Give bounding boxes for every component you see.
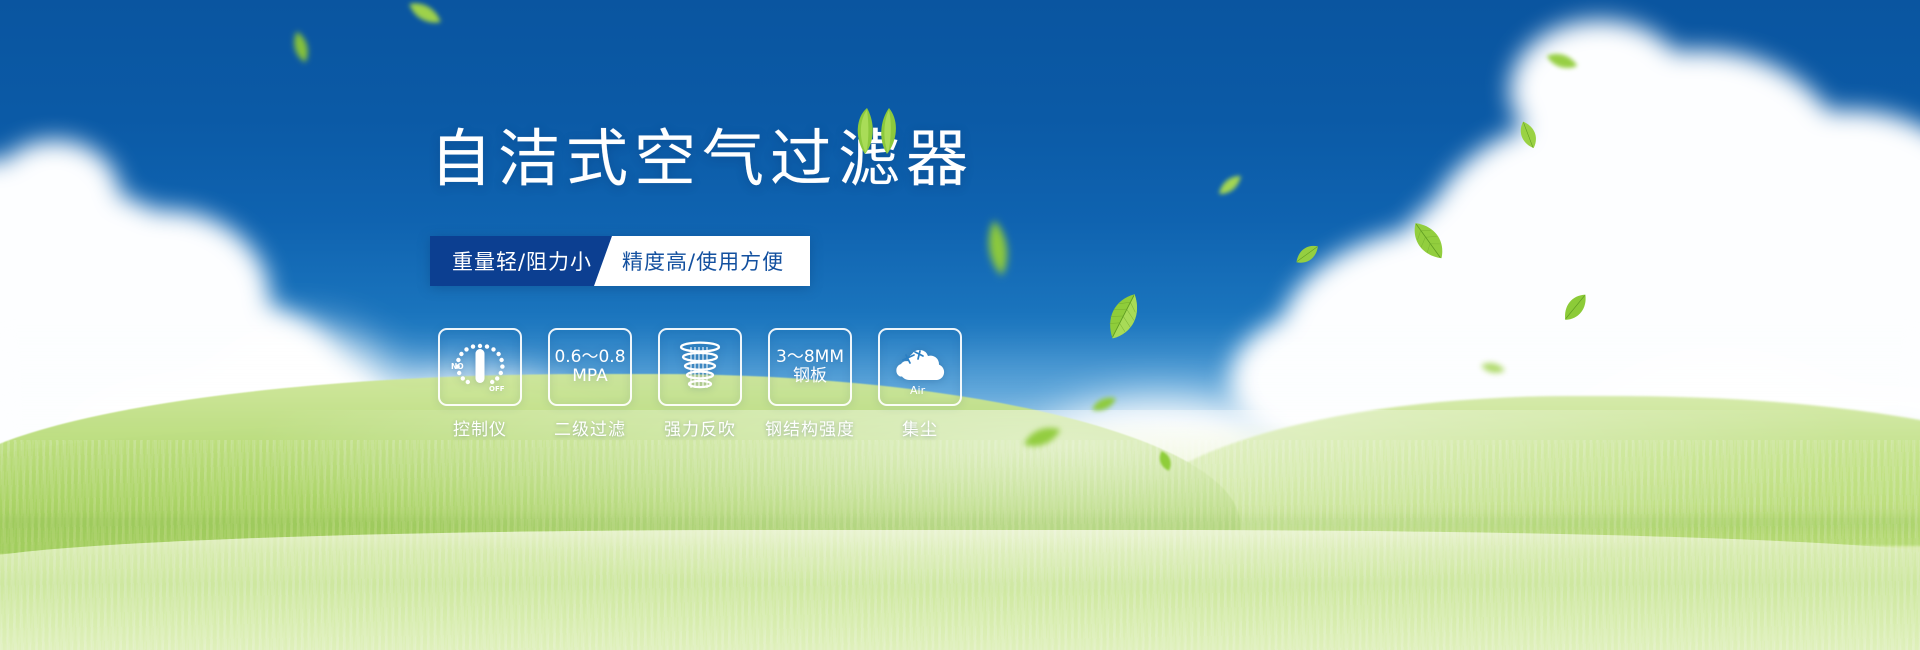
feature-box-blowback bbox=[658, 328, 742, 406]
pressure-text-icon: 0.6～0.8 MPA bbox=[554, 348, 625, 386]
feature-item-steel[interactable]: 3～8MM 钢板 钢结构强度 bbox=[768, 328, 852, 440]
tag-secondary[interactable]: 精度高/使用方便 bbox=[594, 236, 810, 286]
feature-box-dust: Air bbox=[878, 328, 962, 406]
feature-box-pressure: 0.6～0.8 MPA bbox=[548, 328, 632, 406]
cloud-air-icon: Air bbox=[887, 336, 953, 398]
feature-label-blowback: 强力反吹 bbox=[664, 415, 736, 440]
feature-label-dust: 集尘 bbox=[902, 415, 938, 440]
feature-box-steel: 3～8MM 钢板 bbox=[768, 328, 852, 406]
feature-box-control: NO OFF bbox=[438, 328, 522, 406]
feature-tag-strip: 重量轻/阻力小 精度高/使用方便 bbox=[430, 236, 810, 286]
feature-icon-row: NO OFF 控制仪 0.6～0.8 MPA 二级过滤 bbox=[438, 328, 962, 440]
feature-item-pressure[interactable]: 0.6～0.8 MPA 二级过滤 bbox=[548, 328, 632, 440]
tag-primary[interactable]: 重量轻/阻力小 bbox=[430, 236, 612, 286]
cloud-air-label: Air bbox=[910, 384, 926, 397]
gauge-dial-icon: NO OFF bbox=[449, 338, 511, 396]
svg-text:OFF: OFF bbox=[489, 385, 505, 393]
feature-label-pressure: 二级过滤 bbox=[554, 415, 626, 440]
product-banner: 自洁式空气过滤器 重量轻/阻力小 精度高/使用方便 bbox=[0, 0, 1920, 650]
feature-label-steel: 钢结构强度 bbox=[765, 415, 855, 440]
feature-item-dust[interactable]: Air 集尘 bbox=[878, 328, 962, 440]
banner-content: 自洁式空气过滤器 重量轻/阻力小 精度高/使用方便 bbox=[0, 0, 1920, 650]
feature-label-control: 控制仪 bbox=[453, 415, 507, 440]
svg-text:NO: NO bbox=[451, 362, 464, 371]
filter-cartridge-icon bbox=[672, 338, 728, 396]
feature-item-blowback[interactable]: 强力反吹 bbox=[658, 328, 742, 440]
feature-item-control[interactable]: NO OFF 控制仪 bbox=[438, 328, 522, 440]
steel-plate-text-icon: 3～8MM 钢板 bbox=[776, 348, 844, 386]
title-leaf-pair-icon bbox=[845, 106, 905, 156]
